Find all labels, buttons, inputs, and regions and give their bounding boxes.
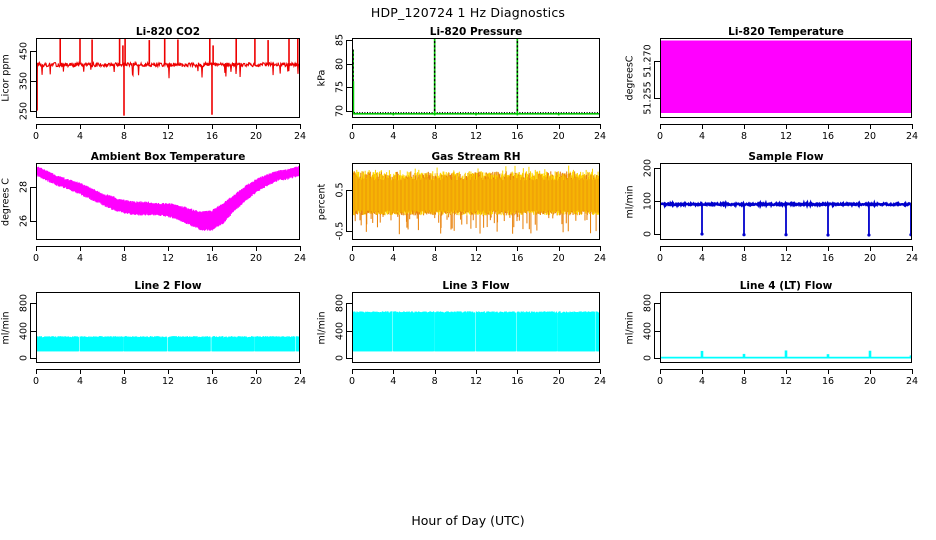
- y-axis-line-line-2-flow: [30, 303, 31, 358]
- x-tick-line-4-lt-flow-2: [744, 369, 745, 374]
- x-tick-gas-stream-rh-0: [352, 246, 353, 251]
- y-axis-label-ambient-box-temperature: degrees C: [1, 178, 12, 226]
- y-tick-sample-flow-0: [654, 234, 660, 235]
- x-tick-label-li820-pressure-3: 12: [470, 131, 482, 142]
- plot-frame-line-3-flow: [352, 292, 600, 363]
- y-tick-label-line-2-flow-1: 400: [19, 322, 30, 340]
- global-x-axis-label: Hour of Day (UTC): [0, 513, 936, 528]
- x-tick-line-3-flow-6: [600, 369, 601, 374]
- x-tick-li820-co2-5: [256, 124, 257, 129]
- page-title: HDP_120724 1 Hz Diagnostics: [0, 5, 936, 20]
- x-tick-li820-temperature-6: [912, 124, 913, 129]
- x-axis-line-line-4-lt-flow: [660, 369, 912, 370]
- y-tick-sample-flow-2: [654, 168, 660, 169]
- y-tick-label-ambient-box-temperature-1: 28: [19, 181, 30, 193]
- x-tick-li820-pressure-5: [559, 124, 560, 129]
- x-tick-line-2-flow-5: [256, 369, 257, 374]
- x-tick-label-gas-stream-rh-5: 20: [553, 253, 565, 264]
- x-tick-label-li820-temperature-2: 8: [741, 131, 747, 142]
- y-tick-ambient-box-temperature-0: [30, 221, 36, 222]
- plot-data-li820-co2: [37, 39, 299, 117]
- y-axis-line-gas-stream-rh: [346, 190, 347, 231]
- plot-frame-sample-flow: [660, 163, 912, 240]
- x-tick-gas-stream-rh-2: [435, 246, 436, 251]
- x-tick-label-sample-flow-2: 8: [741, 253, 747, 264]
- x-tick-li820-co2-3: [168, 124, 169, 129]
- y-tick-line-2-flow-1: [30, 331, 36, 332]
- x-tick-sample-flow-0: [660, 246, 661, 251]
- panel-title-li820-temperature: Li-820 Temperature: [660, 26, 912, 38]
- y-tick-li820-co2-1: [30, 81, 36, 82]
- plot-data-li820-temperature: [661, 39, 911, 117]
- y-axis-label-li820-pressure: kPa: [317, 70, 328, 87]
- y-tick-label-li820-temperature-0: 51.255: [643, 81, 654, 114]
- x-axis-line-gas-stream-rh: [352, 246, 600, 247]
- x-tick-label-li820-co2-2: 8: [121, 131, 127, 142]
- plot-frame-gas-stream-rh: [352, 163, 600, 240]
- x-tick-label-line-4-lt-flow-6: 24: [906, 376, 918, 387]
- x-tick-li820-temperature-3: [786, 124, 787, 129]
- y-tick-label-gas-stream-rh-1: 0.5: [335, 182, 346, 197]
- y-tick-line-4-lt-flow-0: [654, 358, 660, 359]
- x-tick-label-line-3-flow-0: 0: [349, 376, 355, 387]
- plot-data-line-4-lt-flow: [661, 293, 911, 362]
- x-tick-label-sample-flow-4: 16: [822, 253, 834, 264]
- plot-frame-line-4-lt-flow: [660, 292, 912, 363]
- x-tick-label-line-2-flow-6: 24: [294, 376, 306, 387]
- x-axis-line-line-2-flow: [36, 369, 300, 370]
- panel-title-sample-flow: Sample Flow: [660, 151, 912, 163]
- y-tick-label-li820-co2-0: 250: [19, 102, 30, 120]
- y-tick-label-li820-co2-2: 450: [19, 42, 30, 60]
- x-tick-line-2-flow-3: [168, 369, 169, 374]
- panel-title-line-4-lt-flow: Line 4 (LT) Flow: [660, 280, 912, 292]
- x-tick-sample-flow-6: [912, 246, 913, 251]
- y-tick-line-4-lt-flow-2: [654, 303, 660, 304]
- x-tick-line-4-lt-flow-1: [702, 369, 703, 374]
- x-tick-gas-stream-rh-6: [600, 246, 601, 251]
- y-axis-line-sample-flow: [654, 168, 655, 234]
- x-tick-li820-temperature-2: [744, 124, 745, 129]
- x-tick-line-3-flow-0: [352, 369, 353, 374]
- x-tick-ambient-box-temperature-4: [212, 246, 213, 251]
- plot-data-line-2-flow: [37, 293, 299, 362]
- x-tick-line-3-flow-3: [476, 369, 477, 374]
- y-tick-li820-temperature-1: [654, 61, 660, 62]
- x-tick-line-3-flow-4: [517, 369, 518, 374]
- y-tick-line-3-flow-0: [346, 358, 352, 359]
- x-tick-line-3-flow-2: [435, 369, 436, 374]
- x-tick-li820-co2-4: [212, 124, 213, 129]
- x-tick-li820-co2-1: [80, 124, 81, 129]
- x-tick-label-line-4-lt-flow-2: 8: [741, 376, 747, 387]
- y-tick-sample-flow-1: [654, 201, 660, 202]
- y-tick-label-sample-flow-0: 0: [643, 231, 654, 237]
- x-tick-li820-temperature-4: [828, 124, 829, 129]
- x-tick-label-gas-stream-rh-3: 12: [470, 253, 482, 264]
- x-tick-label-line-3-flow-1: 4: [390, 376, 396, 387]
- y-tick-label-li820-pressure-3: 85: [335, 34, 346, 46]
- y-tick-label-li820-temperature-1: 51.270: [643, 44, 654, 77]
- x-tick-label-line-2-flow-4: 16: [206, 376, 218, 387]
- x-tick-li820-pressure-4: [517, 124, 518, 129]
- x-tick-label-li820-temperature-3: 12: [780, 131, 792, 142]
- x-tick-label-line-3-flow-3: 12: [470, 376, 482, 387]
- plot-data-ambient-box-temperature: [37, 164, 299, 239]
- y-tick-line-2-flow-0: [30, 358, 36, 359]
- x-tick-label-li820-co2-3: 12: [162, 131, 174, 142]
- y-tick-li820-pressure-2: [346, 64, 352, 65]
- y-tick-label-line-2-flow-2: 800: [19, 294, 30, 312]
- plot-data-gas-stream-rh: [353, 164, 599, 239]
- x-tick-label-line-2-flow-2: 8: [121, 376, 127, 387]
- x-tick-gas-stream-rh-4: [517, 246, 518, 251]
- x-tick-label-line-4-lt-flow-0: 0: [657, 376, 663, 387]
- x-tick-label-gas-stream-rh-1: 4: [390, 253, 396, 264]
- x-tick-label-ambient-box-temperature-1: 4: [77, 253, 83, 264]
- panel-title-ambient-box-temperature: Ambient Box Temperature: [36, 151, 300, 163]
- panel-line-4-lt-flow: Line 4 (LT) Flow0400800ml/min04812162024: [0, 0, 936, 540]
- x-tick-line-2-flow-1: [80, 369, 81, 374]
- y-tick-line-2-flow-2: [30, 303, 36, 304]
- x-tick-label-li820-co2-4: 16: [206, 131, 218, 142]
- x-tick-li820-temperature-0: [660, 124, 661, 129]
- y-tick-label-line-3-flow-2: 800: [335, 294, 346, 312]
- y-axis-line-line-4-lt-flow: [654, 303, 655, 358]
- x-tick-sample-flow-4: [828, 246, 829, 251]
- x-tick-label-li820-temperature-5: 20: [864, 131, 876, 142]
- x-axis-line-line-3-flow: [352, 369, 600, 370]
- panel-sample-flow: Sample Flow0100200ml/min04812162024: [0, 0, 936, 540]
- x-tick-label-line-2-flow-0: 0: [33, 376, 39, 387]
- y-axis-label-sample-flow: ml/min: [625, 185, 636, 218]
- x-tick-gas-stream-rh-1: [393, 246, 394, 251]
- x-tick-label-ambient-box-temperature-5: 20: [250, 253, 262, 264]
- x-tick-line-3-flow-1: [393, 369, 394, 374]
- y-tick-li820-pressure-1: [346, 87, 352, 88]
- x-tick-label-gas-stream-rh-0: 0: [349, 253, 355, 264]
- plot-frame-li820-temperature: [660, 38, 912, 118]
- x-tick-label-line-4-lt-flow-5: 20: [864, 376, 876, 387]
- x-tick-ambient-box-temperature-5: [256, 246, 257, 251]
- x-tick-li820-co2-6: [300, 124, 301, 129]
- y-tick-line-3-flow-1: [346, 331, 352, 332]
- y-tick-label-line-4-lt-flow-2: 800: [643, 294, 654, 312]
- x-tick-label-ambient-box-temperature-6: 24: [294, 253, 306, 264]
- x-tick-label-sample-flow-6: 24: [906, 253, 918, 264]
- plot-frame-ambient-box-temperature: [36, 163, 300, 240]
- panel-line-3-flow: Line 3 Flow0400800ml/min04812162024: [0, 0, 936, 540]
- x-tick-ambient-box-temperature-1: [80, 246, 81, 251]
- x-axis-line-li820-co2: [36, 124, 300, 125]
- x-tick-label-li820-temperature-0: 0: [657, 131, 663, 142]
- x-tick-li820-co2-0: [36, 124, 37, 129]
- x-tick-label-li820-co2-6: 24: [294, 131, 306, 142]
- panel-title-line-3-flow: Line 3 Flow: [352, 280, 600, 292]
- plot-data-sample-flow: [661, 164, 911, 239]
- x-tick-label-ambient-box-temperature-4: 16: [206, 253, 218, 264]
- y-axis-line-li820-pressure: [346, 40, 347, 111]
- y-axis-line-li820-temperature: [654, 61, 655, 99]
- x-tick-label-line-4-lt-flow-3: 12: [780, 376, 792, 387]
- x-tick-li820-pressure-6: [600, 124, 601, 129]
- x-tick-label-li820-pressure-0: 0: [349, 131, 355, 142]
- y-tick-label-li820-co2-1: 350: [19, 72, 30, 90]
- y-tick-label-ambient-box-temperature-0: 26: [19, 215, 30, 227]
- x-tick-line-4-lt-flow-4: [828, 369, 829, 374]
- x-tick-ambient-box-temperature-0: [36, 246, 37, 251]
- x-axis-line-li820-temperature: [660, 124, 912, 125]
- y-tick-li820-co2-2: [30, 51, 36, 52]
- y-tick-gas-stream-rh-1: [346, 190, 352, 191]
- x-tick-li820-pressure-2: [435, 124, 436, 129]
- x-tick-label-sample-flow-5: 20: [864, 253, 876, 264]
- panel-li820-temperature: Li-820 Temperature51.25551.270degreesC04…: [0, 0, 936, 540]
- x-tick-label-li820-co2-0: 0: [33, 131, 39, 142]
- x-tick-gas-stream-rh-3: [476, 246, 477, 251]
- x-tick-label-line-2-flow-1: 4: [77, 376, 83, 387]
- panel-title-li820-pressure: Li-820 Pressure: [352, 26, 600, 38]
- y-tick-label-sample-flow-1: 100: [643, 192, 654, 210]
- x-tick-label-sample-flow-3: 12: [780, 253, 792, 264]
- x-tick-label-li820-temperature-1: 4: [699, 131, 705, 142]
- x-tick-label-li820-co2-1: 4: [77, 131, 83, 142]
- x-tick-line-2-flow-0: [36, 369, 37, 374]
- x-tick-label-ambient-box-temperature-2: 8: [121, 253, 127, 264]
- panel-gas-stream-rh: Gas Stream RH-0.50.5percent04812162024: [0, 0, 936, 540]
- y-tick-li820-pressure-3: [346, 40, 352, 41]
- x-tick-label-ambient-box-temperature-0: 0: [33, 253, 39, 264]
- y-tick-label-li820-pressure-0: 70: [335, 105, 346, 117]
- x-tick-label-li820-co2-5: 20: [250, 131, 262, 142]
- x-tick-li820-co2-2: [124, 124, 125, 129]
- x-tick-label-line-3-flow-4: 16: [511, 376, 523, 387]
- x-tick-label-gas-stream-rh-6: 24: [594, 253, 606, 264]
- x-tick-label-ambient-box-temperature-3: 12: [162, 253, 174, 264]
- panel-line-2-flow: Line 2 Flow0400800ml/min04812162024: [0, 0, 936, 540]
- plot-frame-line-2-flow: [36, 292, 300, 363]
- plot-frame-li820-pressure: [352, 38, 600, 118]
- plot-data-line-3-flow: [353, 293, 599, 362]
- y-axis-line-line-3-flow: [346, 303, 347, 358]
- y-tick-label-line-4-lt-flow-0: 0: [643, 355, 654, 361]
- x-tick-gas-stream-rh-5: [559, 246, 560, 251]
- x-tick-label-li820-temperature-4: 16: [822, 131, 834, 142]
- y-axis-line-ambient-box-temperature: [30, 187, 31, 221]
- x-tick-line-2-flow-6: [300, 369, 301, 374]
- x-axis-line-sample-flow: [660, 246, 912, 247]
- y-axis-label-line-3-flow: ml/min: [317, 311, 328, 344]
- x-tick-line-3-flow-5: [559, 369, 560, 374]
- panel-ambient-box-temperature: Ambient Box Temperature2628degrees C0481…: [0, 0, 936, 540]
- y-tick-label-gas-stream-rh-0: -0.5: [335, 222, 346, 241]
- x-axis-line-li820-pressure: [352, 124, 600, 125]
- y-axis-label-line-2-flow: ml/min: [1, 311, 12, 344]
- x-tick-label-sample-flow-1: 4: [699, 253, 705, 264]
- y-axis-label-gas-stream-rh: percent: [317, 183, 328, 219]
- x-tick-label-li820-pressure-5: 20: [553, 131, 565, 142]
- y-tick-gas-stream-rh-0: [346, 231, 352, 232]
- y-tick-label-line-4-lt-flow-1: 400: [643, 322, 654, 340]
- x-tick-label-gas-stream-rh-4: 16: [511, 253, 523, 264]
- y-tick-line-4-lt-flow-1: [654, 331, 660, 332]
- x-tick-line-2-flow-2: [124, 369, 125, 374]
- x-tick-ambient-box-temperature-3: [168, 246, 169, 251]
- y-tick-label-sample-flow-2: 200: [643, 159, 654, 177]
- y-tick-label-line-2-flow-0: 0: [19, 355, 30, 361]
- x-tick-line-2-flow-4: [212, 369, 213, 374]
- x-tick-label-li820-pressure-2: 8: [432, 131, 438, 142]
- panel-li820-co2: Li-820 CO2250350450Licor ppm04812162024: [0, 0, 936, 540]
- x-tick-line-4-lt-flow-6: [912, 369, 913, 374]
- y-tick-li820-co2-0: [30, 111, 36, 112]
- panel-title-line-2-flow: Line 2 Flow: [36, 280, 300, 292]
- panel-title-gas-stream-rh: Gas Stream RH: [352, 151, 600, 163]
- x-tick-label-line-4-lt-flow-1: 4: [699, 376, 705, 387]
- x-tick-li820-pressure-3: [476, 124, 477, 129]
- x-tick-li820-pressure-1: [393, 124, 394, 129]
- x-tick-label-line-4-lt-flow-4: 16: [822, 376, 834, 387]
- x-tick-label-sample-flow-0: 0: [657, 253, 663, 264]
- y-tick-ambient-box-temperature-1: [30, 187, 36, 188]
- y-axis-label-line-4-lt-flow: ml/min: [625, 311, 636, 344]
- x-tick-label-line-3-flow-2: 8: [432, 376, 438, 387]
- x-tick-li820-temperature-1: [702, 124, 703, 129]
- plot-frame-li820-co2: [36, 38, 300, 118]
- x-tick-line-4-lt-flow-3: [786, 369, 787, 374]
- x-tick-li820-pressure-0: [352, 124, 353, 129]
- y-tick-li820-pressure-0: [346, 111, 352, 112]
- y-tick-label-line-3-flow-0: 0: [335, 355, 346, 361]
- y-axis-label-li820-temperature: degreesC: [625, 56, 636, 101]
- y-axis-label-li820-co2: Licor ppm: [1, 54, 12, 101]
- x-tick-ambient-box-temperature-2: [124, 246, 125, 251]
- y-tick-label-li820-pressure-1: 75: [335, 81, 346, 93]
- y-tick-li820-temperature-0: [654, 98, 660, 99]
- x-tick-sample-flow-5: [870, 246, 871, 251]
- x-tick-label-line-2-flow-3: 12: [162, 376, 174, 387]
- x-tick-sample-flow-2: [744, 246, 745, 251]
- x-tick-label-li820-pressure-1: 4: [390, 131, 396, 142]
- x-tick-sample-flow-3: [786, 246, 787, 251]
- y-tick-label-li820-pressure-2: 80: [335, 58, 346, 70]
- x-tick-sample-flow-1: [702, 246, 703, 251]
- y-axis-line-li820-co2: [30, 51, 31, 110]
- x-tick-line-4-lt-flow-5: [870, 369, 871, 374]
- y-tick-label-line-3-flow-1: 400: [335, 322, 346, 340]
- x-tick-label-line-3-flow-6: 24: [594, 376, 606, 387]
- x-tick-label-gas-stream-rh-2: 8: [432, 253, 438, 264]
- x-tick-label-li820-pressure-6: 24: [594, 131, 606, 142]
- x-tick-ambient-box-temperature-6: [300, 246, 301, 251]
- y-tick-line-3-flow-2: [346, 303, 352, 304]
- panel-title-li820-co2: Li-820 CO2: [36, 26, 300, 38]
- x-tick-label-li820-temperature-6: 24: [906, 131, 918, 142]
- x-tick-line-4-lt-flow-0: [660, 369, 661, 374]
- x-tick-li820-temperature-5: [870, 124, 871, 129]
- x-tick-label-li820-pressure-4: 16: [511, 131, 523, 142]
- plot-data-li820-pressure: [353, 39, 599, 117]
- panel-li820-pressure: Li-820 Pressure70758085kPa04812162024: [0, 0, 936, 540]
- x-axis-line-ambient-box-temperature: [36, 246, 300, 247]
- x-tick-label-line-2-flow-5: 20: [250, 376, 262, 387]
- x-tick-label-line-3-flow-5: 20: [553, 376, 565, 387]
